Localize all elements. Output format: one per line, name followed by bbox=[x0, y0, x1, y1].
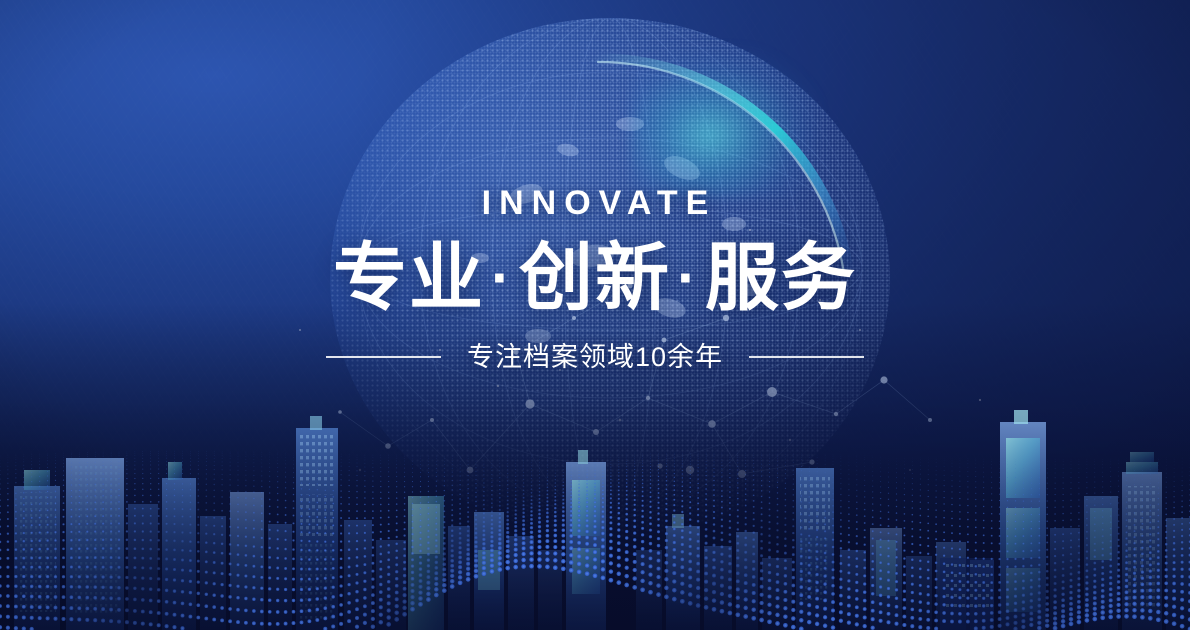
subtitle-text: 专注档案领域10余年 bbox=[467, 344, 723, 371]
headline-separator-2: · bbox=[671, 246, 705, 311]
page-title: 专业·创新·服务 bbox=[0, 238, 1190, 318]
divider-right bbox=[749, 356, 864, 358]
headline-separator-1: · bbox=[485, 246, 519, 311]
subtitle-row: 专注档案领域10余年 bbox=[0, 344, 1190, 371]
divider-left bbox=[326, 356, 441, 358]
eyebrow-text: INNOVATE bbox=[0, 186, 1190, 220]
banner-content: INNOVATE 专业·创新·服务 专注档案领域10余年 bbox=[0, 186, 1190, 371]
hero-banner: INNOVATE 专业·创新·服务 专注档案领域10余年 bbox=[0, 0, 1190, 630]
headline-part-2: 创新 bbox=[519, 236, 671, 319]
headline-part-3: 服务 bbox=[705, 236, 857, 319]
headline-part-1: 专业 bbox=[333, 236, 485, 319]
